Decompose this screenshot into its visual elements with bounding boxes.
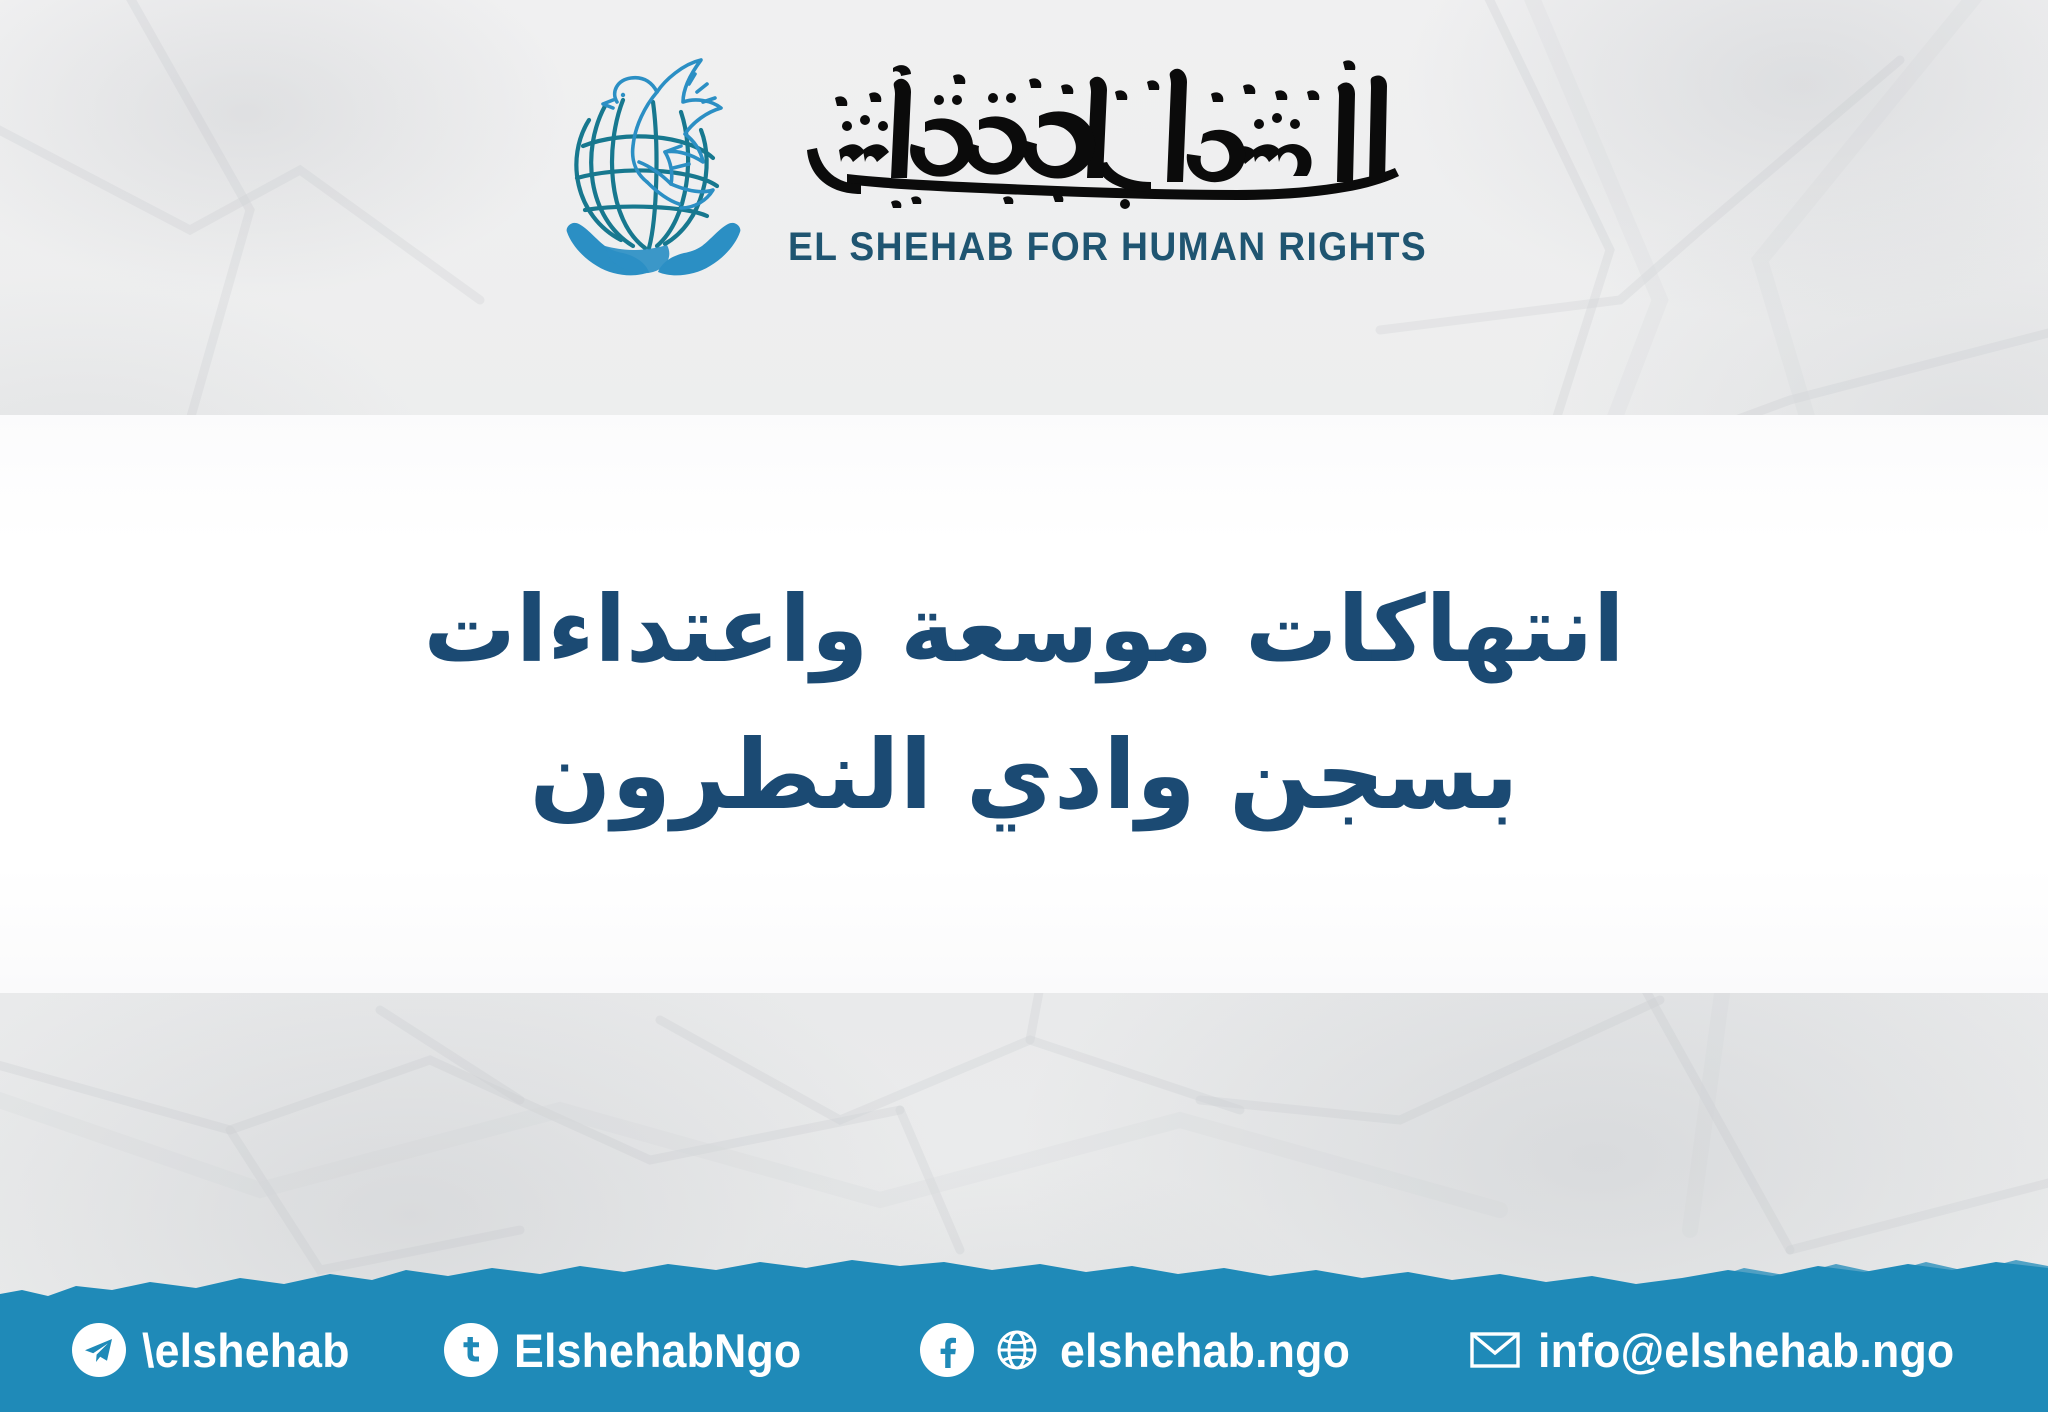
globe-icon: [990, 1323, 1044, 1377]
footer-contact-row: \elshehab ElshehabNgo: [0, 1260, 2048, 1412]
email-address: info@elshehab.ngo: [1538, 1323, 1954, 1378]
contact-twitter[interactable]: ElshehabNgo: [444, 1323, 817, 1378]
headline-line-2: بسجن وادي النطرون: [530, 716, 1519, 835]
organization-name-english: EL SHEHAB FOR HUMAN RIGHTS: [788, 225, 1427, 270]
contact-footer: \elshehab ElshehabNgo: [0, 1260, 2048, 1412]
organization-wordmark: EL SHEHAB FOR HUMAN RIGHTS: [764, 50, 1451, 270]
facebook-icon: [920, 1323, 974, 1377]
twitter-icon: [444, 1323, 498, 1377]
contact-telegram[interactable]: \elshehab: [72, 1323, 361, 1378]
telegram-handle: \elshehab: [142, 1323, 350, 1378]
headline-band: انتهاكات موسعة واعتداءات بسجن وادي النطر…: [0, 415, 2048, 993]
contact-website[interactable]: elshehab.ngo: [920, 1323, 1365, 1378]
dove-globe-hands-icon: [561, 50, 746, 280]
telegram-icon: [72, 1323, 126, 1377]
website-url: elshehab.ngo: [1060, 1323, 1350, 1378]
logo-header: EL SHEHAB FOR HUMAN RIGHTS: [0, 0, 2048, 330]
twitter-handle: ElshehabNgo: [514, 1323, 801, 1378]
organization-name-arabic-calligraphy: [807, 58, 1407, 223]
poster-canvas: EL SHEHAB FOR HUMAN RIGHTS انتهاكات موسع…: [0, 0, 2048, 1412]
email-icon: [1468, 1323, 1522, 1377]
contact-email[interactable]: info@elshehab.ngo: [1468, 1323, 1976, 1378]
headline-line-1: انتهاكات موسعة واعتداءات: [423, 573, 1624, 687]
